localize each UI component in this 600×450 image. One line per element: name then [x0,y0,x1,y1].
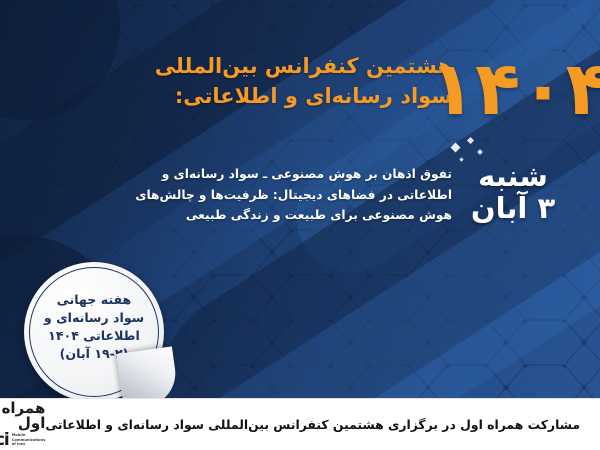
event-year: ۱۴۰۴ [430,52,600,126]
event-date: شنبه ۳ آبان [428,160,598,225]
theme-line-1: تفوق اذهان بر هوش مصنوعی ـ سواد رسانه‌ای… [160,164,452,185]
sticker-line-3: اطلاعاتی ۱۴۰۴ [48,327,140,345]
sticker-line-2: سواد رسانه‌ای و [44,309,144,327]
theme-line-3: هوش مصنوعی برای طبیعت و زندگی طبیعی [160,205,452,226]
mci-logo-tagline: Mobile Communications of Iran [12,433,46,448]
event-date-day-month: ۳ آبان [428,192,598,224]
mci-logo: همراه اول mci Mobile Communications of I… [0,401,45,449]
headline-line-2: سواد رسانه‌ای و اطلاعاتی: [162,82,452,112]
global-week-sticker: هفته جهانی سواد رسانه‌ای و اطلاعاتی ۱۴۰۴… [24,262,164,402]
poster-theme: تفوق اذهان بر هوش مصنوعی ـ سواد رسانه‌ای… [160,164,452,226]
conference-poster: هشتمین کنفرانس بین‌المللی سواد رسانه‌ای … [0,0,600,450]
poster-headline: هشتمین کنفرانس بین‌المللی سواد رسانه‌ای … [162,52,452,112]
poster-footer: مشارکت همراه اول در برگزاری هشتمین کنفرا… [0,398,600,450]
headline-line-1: هشتمین کنفرانس بین‌المللی [162,52,452,82]
mci-tagline-line-3: of Iran [12,442,46,446]
mci-logo-bottom: mci Mobile Communications of Iran [0,432,45,449]
event-date-weekday: شنبه [428,160,598,192]
footer-sponsor-text: مشارکت همراه اول در برگزاری هشتمین کنفرا… [45,417,586,432]
mci-logo-english: mci [0,432,9,449]
sticker-line-1: هفته جهانی [57,291,132,309]
theme-line-2: اطلاعاتی در فضاهای دیجیتال: ظرفیت‌ها و چ… [160,185,452,206]
mci-logo-persian: همراه اول [0,401,45,431]
